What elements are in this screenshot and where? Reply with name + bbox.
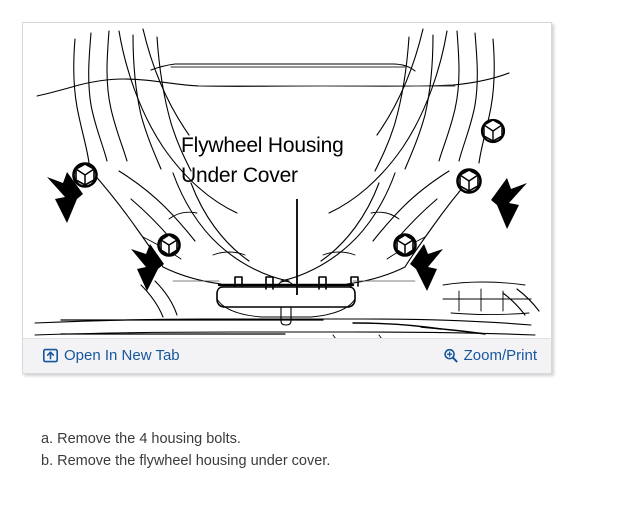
instruction-list: a. Remove the 4 housing bolts. b. Remove… (41, 428, 581, 472)
open-in-new-tab-label: Open In New Tab (64, 347, 180, 364)
instruction-step-b: b. Remove the flywheel housing under cov… (41, 450, 581, 472)
housing-bolt-lower-right (395, 235, 416, 256)
housing-bolt-upper-right (458, 170, 481, 193)
instruction-step-a: a. Remove the 4 housing bolts. (41, 428, 581, 450)
callout-label: Flywheel Housing Under Cover (181, 131, 396, 191)
open-in-new-tab-icon (43, 348, 58, 363)
arrow-upper-right (491, 178, 527, 229)
figure-toolbar: Open In New Tab Zoom/Print (23, 338, 551, 373)
housing-bolt-top-right-detail (482, 120, 504, 142)
housing-bolt-upper-left (74, 164, 97, 187)
open-in-new-tab-button[interactable]: Open In New Tab (43, 347, 180, 364)
housing-bolt-lower-left (159, 235, 180, 256)
zoom-print-label: Zoom/Print (464, 347, 537, 364)
figure-panel: Flywheel Housing Under Cover Y A76446 Op… (22, 22, 552, 374)
figure-image: Flywheel Housing Under Cover (23, 23, 551, 338)
zoom-print-button[interactable]: Zoom/Print (443, 347, 537, 364)
magnifier-plus-icon (443, 348, 458, 363)
